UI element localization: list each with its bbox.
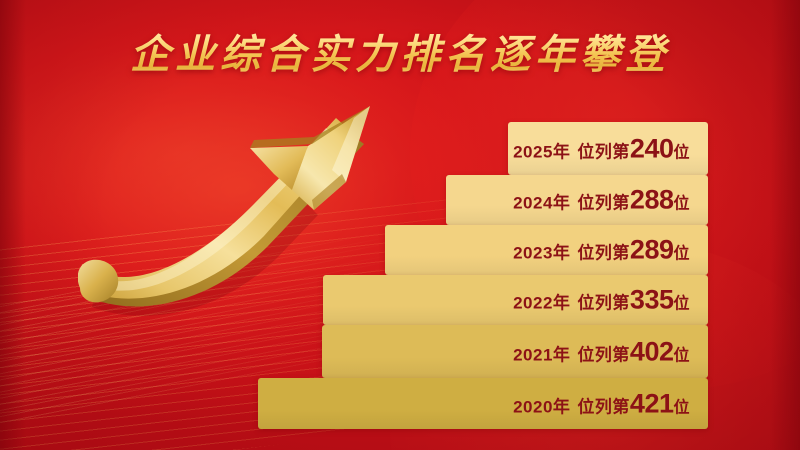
step-2021[interactable]: 2021年 位列第 402 位 [322,325,708,378]
step-suffix-2023: 位 [673,240,690,264]
step-label-2023: 2023年 位列第 289 位 [513,237,690,264]
step-label-2020: 2020年 位列第 421 位 [513,390,690,417]
step-year-2020: 2020年 [513,392,570,417]
step-suffix-2024: 位 [673,190,690,214]
step-2025[interactable]: 2025年 位列第 240 位 [508,122,708,175]
step-rank-2020: 421 [630,390,674,417]
step-rank-2022: 335 [630,287,674,314]
step-prefix-2024: 位列第 [577,189,630,214]
step-year-2021: 2021年 [513,340,570,365]
step-label-2024: 2024年 位列第 288 位 [513,187,690,214]
step-2022[interactable]: 2022年 位列第 335 位 [323,275,708,325]
step-year-2024: 2024年 [513,189,570,214]
step-prefix-2022: 位列第 [577,289,630,314]
step-label-2025: 2025年 位列第 240 位 [513,135,690,162]
step-year-2022: 2022年 [513,289,570,314]
step-rank-2023: 289 [630,237,674,264]
step-suffix-2022: 位 [673,290,690,314]
step-year-2023: 2023年 [513,239,570,264]
step-prefix-2025: 位列第 [577,137,630,162]
step-2024[interactable]: 2024年 位列第 288 位 [446,175,708,225]
step-prefix-2021: 位列第 [577,340,630,365]
step-2023[interactable]: 2023年 位列第 289 位 [385,225,708,275]
step-label-2021: 2021年 位列第 402 位 [513,338,690,365]
staircase-chart: 2025年 位列第 240 位 2024年 位列第 288 位 2023年 位列… [0,0,800,450]
step-suffix-2020: 位 [673,393,690,417]
step-prefix-2020: 位列第 [577,392,630,417]
step-prefix-2023: 位列第 [577,239,630,264]
step-year-2025: 2025年 [513,137,570,162]
step-label-2022: 2022年 位列第 335 位 [513,287,690,314]
poster-canvas: 企业综合实力排名逐年攀登 2025年 位列第 240 位 2024年 位列第 2… [0,0,800,450]
step-rank-2024: 288 [630,187,674,214]
step-suffix-2021: 位 [673,341,690,365]
step-suffix-2025: 位 [673,138,690,162]
step-rank-2021: 402 [630,338,674,365]
step-2020[interactable]: 2020年 位列第 421 位 [258,378,708,429]
step-rank-2025: 240 [630,135,674,162]
